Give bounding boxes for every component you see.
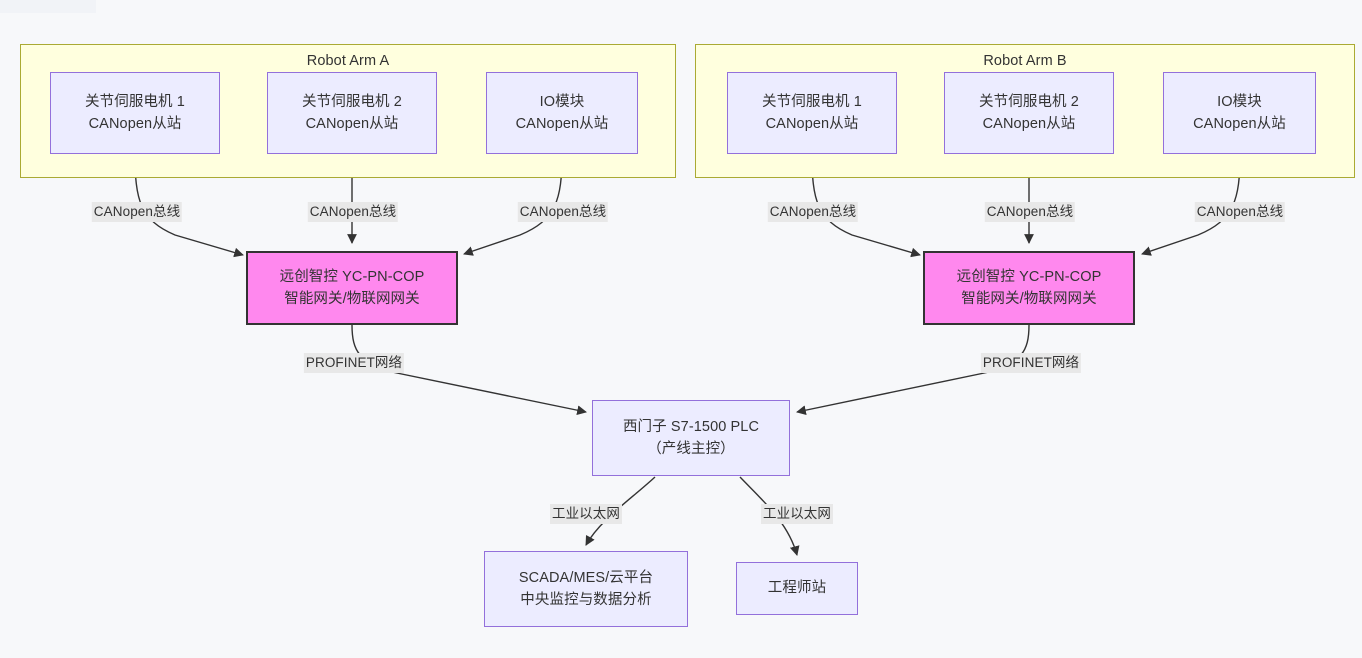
- node-scada-line1: SCADA/MES/云平台: [519, 567, 653, 589]
- node-b-io-module-line1: IO模块: [1217, 91, 1262, 113]
- diagram-canvas: Robot Arm A 关节伺服电机 1 CANopen从站 关节伺服电机 2 …: [0, 0, 1362, 658]
- node-engineer-station[interactable]: 工程师站: [736, 562, 858, 615]
- node-b-servo-motor-1-line1: 关节伺服电机 1: [762, 91, 862, 113]
- node-b-servo-motor-2[interactable]: 关节伺服电机 2 CANopen从站: [944, 72, 1114, 154]
- node-plc-line2: （产线主控）: [647, 438, 735, 460]
- node-plc[interactable]: 西门子 S7-1500 PLC （产线主控）: [592, 400, 790, 476]
- node-b-servo-motor-1[interactable]: 关节伺服电机 1 CANopen从站: [727, 72, 897, 154]
- node-a-servo-motor-1-line1: 关节伺服电机 1: [85, 91, 185, 113]
- subgraph-title-arm-a: Robot Arm A: [21, 53, 675, 69]
- node-gateway-a-line1: 远创智控 YC-PN-COP: [280, 266, 425, 288]
- node-scada-mes-cloud[interactable]: SCADA/MES/云平台 中央监控与数据分析: [484, 551, 688, 627]
- node-gateway-b-line2: 智能网关/物联网网关: [961, 288, 1097, 310]
- edge-label-a-servo1-gw: CANopen总线: [92, 202, 182, 222]
- node-a-io-module-line2: CANopen从站: [516, 113, 609, 135]
- edge-label-b-servo2-gw: CANopen总线: [985, 202, 1075, 222]
- node-a-servo-motor-2-line1: 关节伺服电机 2: [302, 91, 402, 113]
- edge-label-b-io-gw: CANopen总线: [1195, 202, 1285, 222]
- node-gateway-b-line1: 远创智控 YC-PN-COP: [957, 266, 1102, 288]
- subgraph-title-arm-b: Robot Arm B: [696, 53, 1354, 69]
- node-b-servo-motor-1-line2: CANopen从站: [766, 113, 859, 135]
- node-a-io-module-line1: IO模块: [540, 91, 585, 113]
- node-plc-line1: 西门子 S7-1500 PLC: [623, 416, 759, 438]
- node-b-servo-motor-2-line2: CANopen从站: [983, 113, 1076, 135]
- edge-label-gwb-plc: PROFINET网络: [981, 353, 1081, 373]
- edge-label-gwa-plc: PROFINET网络: [304, 353, 404, 373]
- edge-label-a-servo2-gw: CANopen总线: [308, 202, 398, 222]
- node-a-servo-motor-2[interactable]: 关节伺服电机 2 CANopen从站: [267, 72, 437, 154]
- node-b-io-module-line2: CANopen从站: [1193, 113, 1286, 135]
- edge-label-plc-eng: 工业以太网: [761, 504, 833, 524]
- node-engineer-station-line1: 工程师站: [768, 577, 826, 599]
- node-b-io-module[interactable]: IO模块 CANopen从站: [1163, 72, 1316, 154]
- node-a-servo-motor-2-line2: CANopen从站: [306, 113, 399, 135]
- edge-label-plc-scada: 工业以太网: [550, 504, 622, 524]
- node-gateway-b[interactable]: 远创智控 YC-PN-COP 智能网关/物联网网关: [923, 251, 1135, 325]
- node-gateway-a[interactable]: 远创智控 YC-PN-COP 智能网关/物联网网关: [246, 251, 458, 325]
- node-b-servo-motor-2-line1: 关节伺服电机 2: [979, 91, 1079, 113]
- node-a-servo-motor-1[interactable]: 关节伺服电机 1 CANopen从站: [50, 72, 220, 154]
- node-scada-line2: 中央监控与数据分析: [520, 589, 651, 611]
- edge-label-b-servo1-gw: CANopen总线: [768, 202, 858, 222]
- node-a-io-module[interactable]: IO模块 CANopen从站: [486, 72, 638, 154]
- node-gateway-a-line2: 智能网关/物联网网关: [284, 288, 420, 310]
- edge-label-a-io-gw: CANopen总线: [518, 202, 608, 222]
- node-a-servo-motor-1-line2: CANopen从站: [89, 113, 182, 135]
